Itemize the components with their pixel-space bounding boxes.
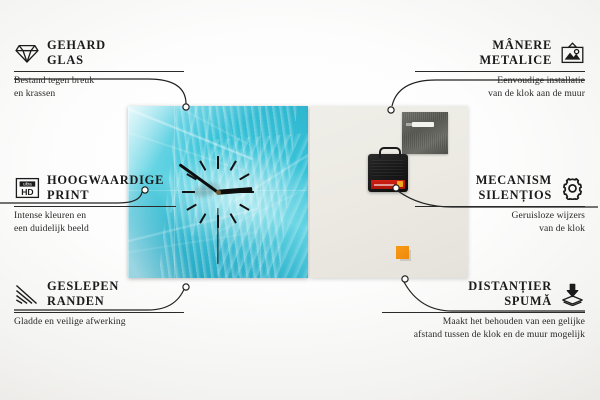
callout-title: HOOGWAARDIGE PRINT (47, 173, 164, 203)
hands-center-cap (216, 190, 221, 195)
quartz-mechanism-box (368, 154, 408, 192)
callout-description: Bestand tegen breuk en krassen (14, 75, 184, 100)
callout-rule (14, 312, 184, 313)
callout-title: MÂNERE METALICE (479, 38, 552, 68)
picture-frame-icon (559, 42, 585, 64)
battery-plus-terminal (397, 181, 403, 187)
battery-label-stripe (374, 184, 394, 186)
callout-geslepen-randen: GESLEPEN RANDEN Gladde en veilige afwerk… (14, 279, 184, 329)
callout-title-line2: METALICE (479, 53, 552, 67)
callout-title-line2: SPUMĂ (504, 294, 552, 308)
battery (371, 180, 405, 189)
callout-desc-line1: Geruisloze wijzers (512, 210, 585, 221)
callout-desc-line1: Intense kleuren en (14, 210, 86, 221)
callout-desc-line2: en krassen (14, 88, 55, 99)
dial-tick-mark (199, 160, 206, 171)
callout-desc-line2: afstand tussen de klok en de muur mogeli… (414, 329, 585, 340)
callout-title-line1: GEHARD (47, 38, 106, 52)
callout-title-line1: MÂNERE (492, 38, 552, 52)
hanger-slot (412, 122, 434, 127)
callout-title-line1: HOOGWAARDIGE (47, 173, 164, 187)
dial-tick-mark (186, 204, 197, 211)
callout-title: GESLEPEN RANDEN (47, 279, 119, 309)
callout-title: GEHARD GLAS (47, 38, 106, 68)
callout-title: DISTANȚIER SPUMĂ (468, 279, 552, 309)
callout-title-line2: PRINT (47, 188, 89, 202)
svg-text:HD: HD (21, 187, 33, 197)
dial-tick-mark (182, 191, 195, 193)
callout-title-line2: RANDEN (47, 294, 105, 308)
callout-title-line1: MECANISM (476, 173, 552, 187)
diamond-icon (14, 42, 40, 64)
callout-description: Gladde en veilige afwerking (14, 316, 184, 329)
foam-spacer (396, 246, 409, 259)
callout-title-line1: DISTANȚIER (468, 279, 552, 293)
callout-desc-line1: Maakt het behouden van een gelijke (443, 316, 585, 327)
infographic-canvas: GEHARD GLAS Bestand tegen breuk en krass… (0, 0, 600, 400)
callout-desc-line1: Eenvoudige installatie (497, 75, 585, 86)
spacer-layers-icon (559, 283, 585, 305)
callout-title-line1: GESLEPEN (47, 279, 119, 293)
callout-mecanism-silentios: MECANISM SILENȚIOS Geruisloze wijzers va… (415, 173, 585, 236)
callout-title: MECANISM SILENȚIOS (476, 173, 552, 203)
callout-description: Intense kleuren en een duidelijk beeld (14, 210, 176, 235)
callout-manere-metalice: MÂNERE METALICE Eenvoudige installatie v… (415, 38, 585, 101)
hanging-loop (379, 147, 401, 158)
callout-description: Maakt het behouden van een gelijke afsta… (382, 316, 585, 341)
callout-title-line2: GLAS (47, 53, 84, 67)
callout-rule (415, 206, 585, 207)
gear-icon (559, 177, 585, 199)
callout-gehard-glas: GEHARD GLAS Bestand tegen breuk en krass… (14, 38, 184, 101)
callout-rule (14, 71, 184, 72)
callout-rule (382, 312, 585, 313)
beveled-edges-icon (14, 283, 40, 305)
ultra-hd-icon: ultra HD (14, 177, 40, 199)
callout-description: Geruisloze wijzers van de klok (415, 210, 585, 235)
callout-desc-line2: een duidelijk beeld (14, 223, 89, 234)
mechanism-ridges (372, 160, 403, 177)
callout-description: Eenvoudige installatie van de klok aan d… (415, 75, 585, 100)
callout-desc-line2: van de klok (539, 223, 585, 234)
callout-title-line2: SILENȚIOS (478, 188, 552, 202)
callout-desc-line1: Bestand tegen breuk (14, 75, 94, 86)
dial-tick-mark (199, 213, 206, 224)
callout-desc-line1: Gladde en veilige afwerking (14, 316, 126, 327)
callout-desc-line2: van de klok aan de muur (488, 88, 585, 99)
callout-distantier-spuma: DISTANȚIER SPUMĂ Maakt het behouden van … (382, 279, 585, 342)
callout-rule (14, 206, 176, 207)
callout-rule (415, 71, 585, 72)
callout-hoogwaardige-print: ultra HD HOOGWAARDIGE PRINT Intense kleu… (14, 173, 176, 236)
metal-hanger-plate (402, 112, 448, 154)
